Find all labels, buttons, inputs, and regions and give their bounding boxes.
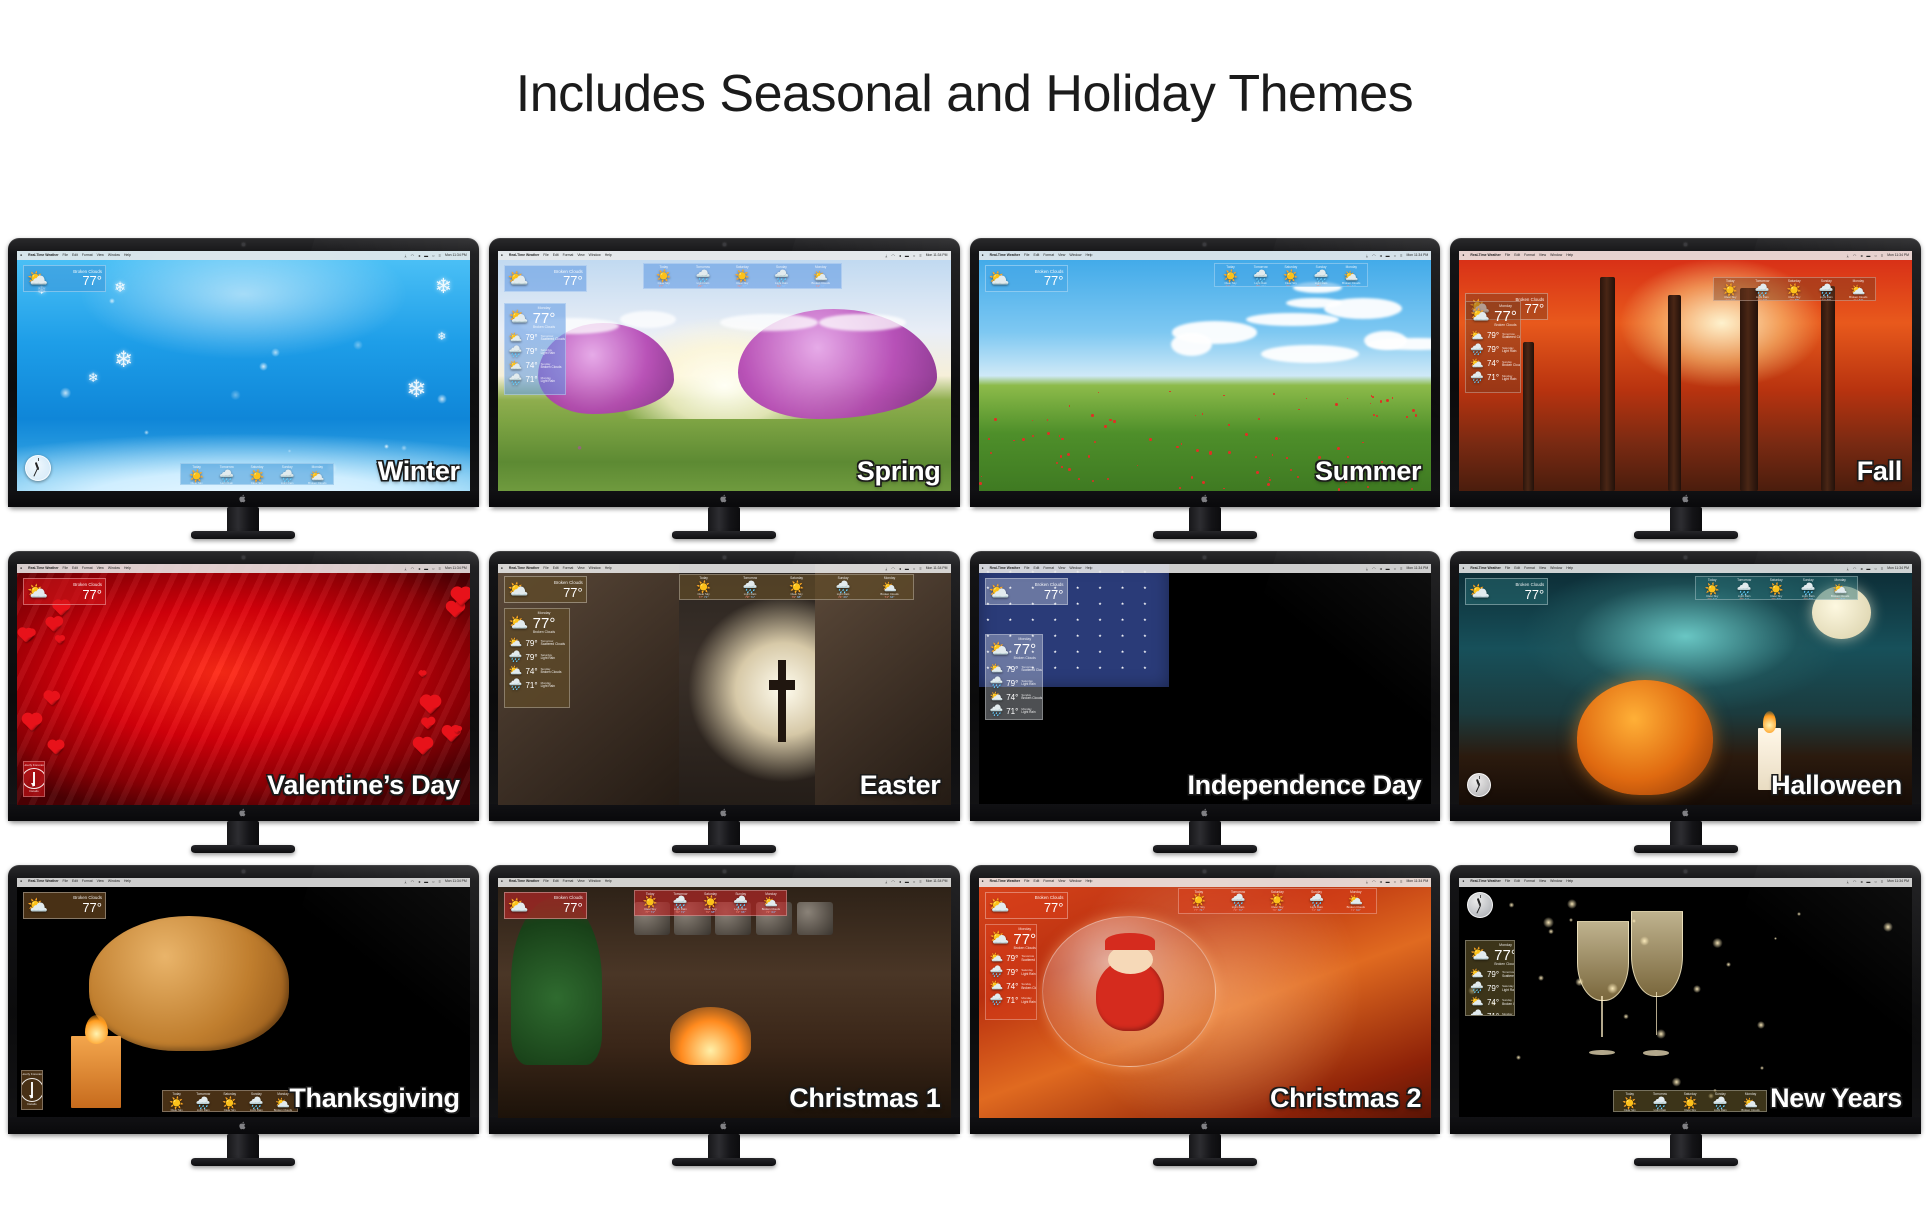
menu-app-name[interactable]: Real-Time Weather [28, 567, 58, 570]
menu-item-view[interactable]: View [97, 880, 104, 883]
menu-item-edit[interactable]: Edit [72, 880, 78, 883]
menu-item-format[interactable]: Format [563, 880, 574, 883]
desktop-screen[interactable]: ●Real-Time WeatherFileEditFormatViewWind… [1459, 251, 1912, 491]
forecast-panel-row[interactable]: 🌧️79°SaturdayLight Rain [1470, 983, 1510, 994]
battery-icon[interactable]: ▬ [1866, 567, 1870, 571]
menu-bar-clock[interactable]: Mon 11:34 PM [1406, 880, 1428, 883]
forecast-day-cell[interactable]: Sunday🌧️Light Rain74° 66° [1706, 1092, 1735, 1110]
forecast-day-cell[interactable]: Monday⛅Broken Clouds71° 64° [1337, 890, 1375, 912]
battery-icon[interactable]: ▬ [424, 567, 428, 571]
barometer-widget[interactable]: Hourly ForecastDetails [21, 1070, 43, 1110]
menu-item-edit[interactable]: Edit [1514, 567, 1520, 570]
forecast-panel-row[interactable]: 🌧️79°SaturdayLight Rain [509, 347, 561, 358]
menu-item-format[interactable]: Format [1524, 880, 1535, 883]
menu-item-file[interactable]: File [543, 880, 548, 883]
forecast-panel-row[interactable]: 🌧️71°MondayLight Rain [990, 706, 1038, 717]
forecast-day-cell[interactable]: Monday⛅Broken Clouds71° 64° [1736, 1092, 1765, 1110]
desktop-screen[interactable]: ●Real-Time WeatherFileEditFormatViewWind… [1459, 878, 1912, 1118]
menu-app-name[interactable]: Real-Time Weather [1470, 567, 1500, 570]
barometer-widget[interactable]: Hourly ForecastDetails [23, 761, 45, 797]
apple-menu-icon[interactable]: ● [501, 880, 503, 884]
notification-icon[interactable]: ≡ [439, 880, 441, 884]
menu-item-file[interactable]: File [63, 254, 68, 257]
menu-bar-clock[interactable]: Mon 11:34 PM [926, 567, 948, 570]
forecast-day-cell[interactable]: Monday⛅Broken Clouds71° 64° [1843, 279, 1874, 299]
bluetooth-icon[interactable]: ᛦ [1366, 880, 1368, 884]
battery-icon[interactable]: ▬ [424, 880, 428, 884]
forecast-day-cell[interactable]: Sunday🌧️Light Rain74° 66° [273, 465, 302, 483]
apple-menu-icon[interactable]: ● [501, 254, 503, 258]
menu-item-window[interactable]: Window [1069, 254, 1081, 257]
menu-bar-clock[interactable]: Mon 11:34 PM [445, 567, 467, 570]
monitor-fall[interactable]: ●Real-Time WeatherFileEditFormatViewWind… [1450, 238, 1921, 541]
menu-item-format[interactable]: Format [563, 254, 574, 257]
forecast-day-cell[interactable]: Sunday🌧️Light Rain74° 66° [244, 1092, 270, 1110]
battery-icon[interactable]: ▬ [1386, 567, 1390, 571]
current-conditions-widget[interactable]: ⛅Broken Clouds77° [23, 892, 106, 919]
forecast-day-cell[interactable]: Saturday☀️Clear Sky79° 68° [723, 265, 761, 287]
battery-icon[interactable]: ▬ [424, 254, 428, 258]
forecast-day-cell[interactable]: Monday⛅Broken Clouds71° 64° [303, 465, 332, 483]
forecast-strip-widget[interactable]: Today☀️Clear Sky77° 71°Tomorrow🌧️Light R… [643, 263, 842, 289]
bluetooth-icon[interactable]: ᛦ [1366, 567, 1368, 571]
monitor-winter[interactable]: ❄❄❄❄❄❄❄●Real-Time WeatherFileEditFormatV… [8, 238, 479, 541]
menu-item-view[interactable]: View [577, 567, 584, 570]
monitor-easter[interactable]: ●Real-Time WeatherFileEditFormatViewWind… [489, 551, 960, 854]
desktop-screen[interactable]: ●Real-Time WeatherFileEditFormatViewWind… [17, 564, 470, 804]
wifi-icon[interactable]: ◠ [1853, 880, 1857, 884]
forecast-panel-row[interactable]: ⛅74°SundayBroken Clouds [509, 666, 565, 677]
forecast-day-cell[interactable]: Saturday☀️Clear Sky79° 68° [242, 465, 271, 483]
monitor-independence[interactable]: ★★★★★★★★★★★★★★★★★★★★★★★★★★★★★★★★★★★★★★★★… [970, 551, 1441, 854]
apple-menu-icon[interactable]: ● [20, 567, 22, 571]
forecast-day-cell[interactable]: Sunday🌧️Light Rain74° 66° [820, 576, 865, 598]
search-icon[interactable]: ○ [432, 567, 434, 571]
menu-item-edit[interactable]: Edit [1514, 880, 1520, 883]
menu-item-file[interactable]: File [543, 254, 548, 257]
menu-item-format[interactable]: Format [82, 567, 93, 570]
desktop-screen[interactable]: ❄❄❄❄❄❄❄●Real-Time WeatherFileEditFormatV… [17, 251, 470, 491]
menu-item-help[interactable]: Help [1085, 880, 1092, 883]
forecast-day-cell[interactable]: Saturday☀️Clear Sky79° 68° [1276, 265, 1305, 285]
menu-item-window[interactable]: Window [1069, 567, 1081, 570]
forecast-day-cell[interactable]: Monday⛅Broken Clouds71° 64° [867, 576, 912, 598]
forecast-panel-widget[interactable]: ⛅Monday77°Broken Clouds⛅79°TomorrowScatt… [985, 634, 1043, 720]
menu-item-window[interactable]: Window [1069, 880, 1081, 883]
monitor-spring[interactable]: ●Real-Time WeatherFileEditFormatViewWind… [489, 238, 960, 541]
forecast-day-cell[interactable]: Saturday☀️Clear Sky79° 68° [217, 1092, 243, 1110]
forecast-panel-row[interactable]: 🌧️71°MondayLight Rain [509, 680, 565, 691]
menu-item-window[interactable]: Window [589, 567, 601, 570]
menu-item-edit[interactable]: Edit [1034, 567, 1040, 570]
menu-item-file[interactable]: File [63, 880, 68, 883]
menu-item-window[interactable]: Window [1550, 880, 1562, 883]
menu-app-name[interactable]: Real-Time Weather [509, 254, 539, 257]
forecast-day-cell[interactable]: Saturday☀️Clear Sky79° 68° [1761, 578, 1792, 598]
wifi-icon[interactable]: ◠ [411, 880, 415, 884]
forecast-panel-row[interactable]: ⛅74°SundayBroken Clouds [1470, 997, 1510, 1008]
forecast-strip-widget[interactable]: Today☀️Clear Sky77° 71°Tomorrow🌧️Light R… [180, 463, 334, 485]
menu-item-file[interactable]: File [1024, 880, 1029, 883]
menu-item-window[interactable]: Window [1550, 254, 1562, 257]
volume-icon[interactable]: ◂ [1860, 567, 1862, 571]
forecast-day-cell[interactable]: Monday⛅Broken Clouds71° 64° [1825, 578, 1856, 598]
menu-item-format[interactable]: Format [1524, 567, 1535, 570]
menu-item-edit[interactable]: Edit [1034, 880, 1040, 883]
menu-item-format[interactable]: Format [82, 880, 93, 883]
forecast-day-cell[interactable]: Today☀️Clear Sky77° 71° [636, 892, 665, 914]
menu-item-help[interactable]: Help [1085, 567, 1092, 570]
monitor-thanksgiving[interactable]: ●Real-Time WeatherFileEditFormatViewWind… [8, 865, 479, 1168]
apple-menu-icon[interactable]: ● [982, 254, 984, 258]
forecast-day-cell[interactable]: Tomorrow🌧️Light Rain79° 71° [212, 465, 241, 483]
forecast-panel-row[interactable]: ⛅74°SundayBroken Clouds [990, 692, 1038, 703]
menu-item-file[interactable]: File [1024, 567, 1029, 570]
wifi-icon[interactable]: ◠ [1372, 254, 1376, 258]
forecast-panel-row[interactable]: ⛅79°TomorrowScattered Clouds [990, 664, 1038, 675]
bluetooth-icon[interactable]: ᛦ [1847, 567, 1849, 571]
menu-item-help[interactable]: Help [1566, 880, 1573, 883]
forecast-day-cell[interactable]: Monday⛅Broken Clouds71° 64° [1337, 265, 1366, 285]
forecast-day-cell[interactable]: Sunday🌧️Light Rain74° 66° [1793, 578, 1824, 598]
notification-icon[interactable]: ≡ [919, 567, 921, 571]
menu-item-window[interactable]: Window [589, 880, 601, 883]
battery-icon[interactable]: ▬ [1866, 880, 1870, 884]
bluetooth-icon[interactable]: ᛦ [1847, 254, 1849, 258]
notification-icon[interactable]: ≡ [1400, 880, 1402, 884]
menu-item-format[interactable]: Format [1524, 254, 1535, 257]
search-icon[interactable]: ○ [432, 880, 434, 884]
forecast-panel-row[interactable]: 🌧️71°MondayLight Rain [1470, 373, 1516, 384]
volume-icon[interactable]: ◂ [418, 880, 420, 884]
forecast-day-cell[interactable]: Today☀️Clear Sky77° 71° [182, 465, 211, 483]
forecast-day-cell[interactable]: Today☀️Clear Sky77° 71° [1715, 279, 1746, 299]
bluetooth-icon[interactable]: ᛦ [1366, 254, 1368, 258]
desktop-screen[interactable]: ●Real-Time WeatherFileEditFormatViewWind… [498, 878, 951, 1118]
forecast-day-cell[interactable]: Today☀️Clear Sky77° 71° [645, 265, 683, 287]
notification-icon[interactable]: ≡ [1881, 880, 1883, 884]
wifi-icon[interactable]: ◠ [1372, 567, 1376, 571]
apple-menu-icon[interactable]: ● [1462, 880, 1464, 884]
menu-bar-clock[interactable]: Mon 11:34 PM [1887, 567, 1909, 570]
forecast-strip-widget[interactable]: Today☀️Clear Sky77° 71°Tomorrow🌧️Light R… [634, 890, 788, 916]
menu-item-edit[interactable]: Edit [72, 254, 78, 257]
menu-bar-clock[interactable]: Mon 11:34 PM [1887, 254, 1909, 257]
menu-item-help[interactable]: Help [124, 880, 131, 883]
forecast-strip-widget[interactable]: Today☀️Clear Sky77° 71°Tomorrow🌧️Light R… [1695, 576, 1858, 600]
menu-item-file[interactable]: File [1505, 254, 1510, 257]
forecast-day-cell[interactable]: Tomorrow🌧️Light Rain79° 71° [190, 1092, 216, 1110]
forecast-panel-row[interactable]: ⛅74°SundayBroken Clouds [509, 361, 561, 372]
forecast-panel-widget[interactable]: ⛅Monday77°Broken Clouds⛅79°TomorrowScatt… [504, 608, 570, 708]
menu-item-edit[interactable]: Edit [553, 880, 559, 883]
forecast-day-cell[interactable]: Saturday☀️Clear Sky79° 68° [696, 892, 725, 914]
forecast-day-cell[interactable]: Today☀️Clear Sky77° 71° [1180, 890, 1218, 912]
forecast-strip-widget[interactable]: Today☀️Clear Sky77° 71°Tomorrow🌧️Light R… [1214, 263, 1368, 287]
forecast-panel-row[interactable]: ⛅74°SundayBroken Clouds [1470, 359, 1516, 370]
forecast-day-cell[interactable]: Tomorrow🌧️Light Rain79° 71° [666, 892, 695, 914]
menu-item-file[interactable]: File [1024, 254, 1029, 257]
apple-menu-icon[interactable]: ● [20, 254, 22, 258]
notification-icon[interactable]: ≡ [919, 254, 921, 258]
search-icon[interactable]: ○ [913, 880, 915, 884]
forecast-panel-row[interactable]: 🌧️79°SaturdayLight Rain [509, 652, 565, 663]
apple-menu-icon[interactable]: ● [20, 880, 22, 884]
volume-icon[interactable]: ◂ [1860, 880, 1862, 884]
menu-item-window[interactable]: Window [108, 567, 120, 570]
menu-item-format[interactable]: Format [1043, 254, 1054, 257]
apple-menu-icon[interactable]: ● [1462, 254, 1464, 258]
bluetooth-icon[interactable]: ᛦ [404, 880, 406, 884]
menu-bar-clock[interactable]: Mon 11:34 PM [1406, 567, 1428, 570]
forecast-day-cell[interactable]: Tomorrow🌧️Light Rain79° 71° [1645, 1092, 1674, 1110]
wifi-icon[interactable]: ◠ [891, 254, 895, 258]
volume-icon[interactable]: ◂ [899, 567, 901, 571]
menu-item-help[interactable]: Help [1566, 567, 1573, 570]
monitor-valentine[interactable]: ●Real-Time WeatherFileEditFormatViewWind… [8, 551, 479, 854]
desktop-screen[interactable]: ●Real-Time WeatherFileEditFormatViewWind… [979, 878, 1432, 1118]
bluetooth-icon[interactable]: ᛦ [885, 254, 887, 258]
current-conditions-widget[interactable]: ⛅Broken Clouds77° [23, 578, 106, 605]
wifi-icon[interactable]: ◠ [891, 567, 895, 571]
bluetooth-icon[interactable]: ᛦ [885, 880, 887, 884]
notification-icon[interactable]: ≡ [1881, 567, 1883, 571]
menu-app-name[interactable]: Real-Time Weather [1470, 880, 1500, 883]
forecast-day-cell[interactable]: Today☀️Clear Sky77° 71° [1615, 1092, 1644, 1110]
forecast-day-cell[interactable]: Today☀️Clear Sky77° 71° [164, 1092, 190, 1110]
forecast-day-cell[interactable]: Sunday🌧️Light Rain74° 66° [1306, 265, 1335, 285]
forecast-panel-row[interactable]: ⛅79°TomorrowScattered Clouds [1470, 331, 1516, 342]
forecast-panel-widget[interactable]: ⛅Monday77°Broken Clouds⛅79°TomorrowScatt… [1465, 301, 1521, 393]
forecast-panel-row[interactable]: 🌧️71°MondayLight Rain [990, 995, 1032, 1006]
menu-item-view[interactable]: View [1539, 254, 1546, 257]
monitor-xmas1[interactable]: ●Real-Time WeatherFileEditFormatViewWind… [489, 865, 960, 1168]
current-conditions-widget[interactable]: ⛅Broken Clouds77° [504, 265, 587, 292]
menu-app-name[interactable]: Real-Time Weather [509, 567, 539, 570]
search-icon[interactable]: ○ [432, 254, 434, 258]
monitor-halloween[interactable]: ●Real-Time WeatherFileEditFormatViewWind… [1450, 551, 1921, 854]
menu-item-view[interactable]: View [1058, 880, 1065, 883]
notification-icon[interactable]: ≡ [1400, 254, 1402, 258]
search-icon[interactable]: ○ [1874, 880, 1876, 884]
forecast-day-cell[interactable]: Tomorrow🌧️Light Rain79° 71° [727, 576, 772, 598]
battery-icon[interactable]: ▬ [905, 567, 909, 571]
wifi-icon[interactable]: ◠ [411, 567, 415, 571]
wifi-icon[interactable]: ◠ [1853, 254, 1857, 258]
current-conditions-widget[interactable]: ⛅Broken Clouds77° [23, 265, 106, 292]
menu-app-name[interactable]: Real-Time Weather [509, 880, 539, 883]
forecast-panel-row[interactable]: 🌧️71°MondayLight Rain [509, 375, 561, 386]
battery-icon[interactable]: ▬ [905, 880, 909, 884]
forecast-panel-widget[interactable]: ⛅Monday77°Broken Clouds⛅79°TomorrowScatt… [504, 303, 566, 395]
menu-app-name[interactable]: Real-Time Weather [28, 254, 58, 257]
wifi-icon[interactable]: ◠ [891, 880, 895, 884]
battery-icon[interactable]: ▬ [1386, 254, 1390, 258]
current-conditions-widget[interactable]: ⛅Broken Clouds77° [504, 892, 587, 919]
notification-icon[interactable]: ≡ [1881, 254, 1883, 258]
menu-item-file[interactable]: File [63, 567, 68, 570]
forecast-strip-widget[interactable]: Today☀️Clear Sky77° 71°Tomorrow🌧️Light R… [1178, 888, 1377, 914]
forecast-panel-row[interactable]: 🌧️79°SaturdayLight Rain [1470, 345, 1516, 356]
analog-clock-widget[interactable] [1467, 892, 1493, 918]
menu-item-edit[interactable]: Edit [1034, 254, 1040, 257]
battery-icon[interactable]: ▬ [905, 254, 909, 258]
volume-icon[interactable]: ◂ [1860, 254, 1862, 258]
bluetooth-icon[interactable]: ᛦ [885, 567, 887, 571]
forecast-day-cell[interactable]: Today☀️Clear Sky77° 71° [681, 576, 726, 598]
menu-item-format[interactable]: Format [1043, 567, 1054, 570]
menu-item-format[interactable]: Format [82, 254, 93, 257]
forecast-day-cell[interactable]: Tomorrow🌧️Light Rain79° 71° [1219, 890, 1257, 912]
menu-item-edit[interactable]: Edit [553, 567, 559, 570]
menu-app-name[interactable]: Real-Time Weather [28, 880, 58, 883]
current-conditions-widget[interactable]: ⛅Broken Clouds77° [985, 578, 1068, 605]
bluetooth-icon[interactable]: ᛦ [404, 254, 406, 258]
menu-item-view[interactable]: View [1539, 880, 1546, 883]
battery-icon[interactable]: ▬ [1866, 254, 1870, 258]
forecast-strip-widget[interactable]: Today☀️Clear Sky77° 71°Tomorrow🌧️Light R… [162, 1090, 298, 1112]
search-icon[interactable]: ○ [913, 567, 915, 571]
forecast-panel-row[interactable]: 🌧️71°MondayLight Rain [1470, 1011, 1510, 1015]
menu-item-file[interactable]: File [1505, 567, 1510, 570]
menu-bar-clock[interactable]: Mon 11:34 PM [445, 254, 467, 257]
search-icon[interactable]: ○ [1874, 254, 1876, 258]
forecast-day-cell[interactable]: Sunday🌧️Light Rain74° 66° [1297, 890, 1335, 912]
menu-bar-clock[interactable]: Mon 11:34 PM [1406, 254, 1428, 257]
search-icon[interactable]: ○ [1394, 254, 1396, 258]
forecast-day-cell[interactable]: Tomorrow🌧️Light Rain79° 71° [684, 265, 722, 287]
volume-icon[interactable]: ◂ [1380, 567, 1382, 571]
menu-item-help[interactable]: Help [605, 254, 612, 257]
menu-item-view[interactable]: View [1539, 567, 1546, 570]
wifi-icon[interactable]: ◠ [1372, 880, 1376, 884]
current-conditions-widget[interactable]: ⛅Broken Clouds77° [985, 265, 1068, 292]
bluetooth-icon[interactable]: ᛦ [1847, 880, 1849, 884]
menu-item-edit[interactable]: Edit [1514, 254, 1520, 257]
desktop-screen[interactable]: ●Real-Time WeatherFileEditFormatViewWind… [979, 251, 1432, 491]
desktop-screen[interactable]: ●Real-Time WeatherFileEditFormatViewWind… [498, 564, 951, 804]
forecast-day-cell[interactable]: Monday⛅Broken Clouds71° 64° [802, 265, 840, 287]
volume-icon[interactable]: ◂ [1380, 880, 1382, 884]
menu-item-help[interactable]: Help [124, 254, 131, 257]
forecast-day-cell[interactable]: Today☀️Clear Sky77° 71° [1697, 578, 1728, 598]
desktop-screen[interactable]: ●Real-Time WeatherFileEditFormatViewWind… [498, 251, 951, 491]
forecast-panel-row[interactable]: 🌧️79°SaturdayLight Rain [990, 967, 1032, 978]
forecast-day-cell[interactable]: Monday⛅Broken Clouds71° 64° [756, 892, 785, 914]
forecast-day-cell[interactable]: Tomorrow🌧️Light Rain79° 71° [1747, 279, 1778, 299]
menu-app-name[interactable]: Real-Time Weather [1470, 254, 1500, 257]
forecast-strip-widget[interactable]: Today☀️Clear Sky77° 71°Tomorrow🌧️Light R… [1713, 277, 1876, 301]
menu-item-help[interactable]: Help [1085, 254, 1092, 257]
forecast-day-cell[interactable]: Tomorrow🌧️Light Rain79° 71° [1246, 265, 1275, 285]
forecast-panel-row[interactable]: ⛅79°TomorrowScattered Clouds [509, 333, 561, 344]
wifi-icon[interactable]: ◠ [1853, 567, 1857, 571]
search-icon[interactable]: ○ [1874, 567, 1876, 571]
current-conditions-widget[interactable]: ⛅Broken Clouds77° [1465, 578, 1548, 605]
menu-item-view[interactable]: View [97, 567, 104, 570]
apple-menu-icon[interactable]: ● [982, 567, 984, 571]
bluetooth-icon[interactable]: ᛦ [404, 567, 406, 571]
menu-item-view[interactable]: View [577, 880, 584, 883]
menu-item-view[interactable]: View [97, 254, 104, 257]
menu-bar-clock[interactable]: Mon 11:34 PM [926, 880, 948, 883]
search-icon[interactable]: ○ [913, 254, 915, 258]
forecast-panel-widget[interactable]: ⛅Monday77°Broken Clouds⛅79°TomorrowScatt… [1465, 940, 1515, 1016]
menu-item-edit[interactable]: Edit [72, 567, 78, 570]
forecast-day-cell[interactable]: Sunday🌧️Light Rain74° 66° [726, 892, 755, 914]
notification-icon[interactable]: ≡ [1400, 567, 1402, 571]
menu-item-help[interactable]: Help [605, 567, 612, 570]
menu-item-file[interactable]: File [1505, 880, 1510, 883]
forecast-day-cell[interactable]: Saturday☀️Clear Sky79° 68° [1676, 1092, 1705, 1110]
menu-item-help[interactable]: Help [124, 567, 131, 570]
menu-item-format[interactable]: Format [1043, 880, 1054, 883]
notification-icon[interactable]: ≡ [919, 880, 921, 884]
volume-icon[interactable]: ◂ [899, 880, 901, 884]
forecast-day-cell[interactable]: Sunday🌧️Light Rain74° 66° [762, 265, 800, 287]
forecast-strip-widget[interactable]: Today☀️Clear Sky77° 71°Tomorrow🌧️Light R… [1613, 1090, 1767, 1112]
wifi-icon[interactable]: ◠ [411, 254, 415, 258]
forecast-day-cell[interactable]: Saturday☀️Clear Sky79° 68° [774, 576, 819, 598]
forecast-strip-widget[interactable]: Today☀️Clear Sky77° 71°Tomorrow🌧️Light R… [679, 574, 914, 600]
menu-item-help[interactable]: Help [1566, 254, 1573, 257]
menu-item-view[interactable]: View [577, 254, 584, 257]
forecast-day-cell[interactable]: Today☀️Clear Sky77° 71° [1216, 265, 1245, 285]
menu-app-name[interactable]: Real-Time Weather [990, 880, 1020, 883]
forecast-panel-row[interactable]: 🌧️79°SaturdayLight Rain [990, 678, 1038, 689]
menu-bar-clock[interactable]: Mon 11:34 PM [445, 880, 467, 883]
forecast-panel-row[interactable]: ⛅79°TomorrowScattered Clouds [1470, 969, 1510, 980]
monitor-summer[interactable]: ●Real-Time WeatherFileEditFormatViewWind… [970, 238, 1441, 541]
notification-icon[interactable]: ≡ [439, 567, 441, 571]
volume-icon[interactable]: ◂ [1380, 254, 1382, 258]
apple-menu-icon[interactable]: ● [982, 880, 984, 884]
monitor-xmas2[interactable]: ●Real-Time WeatherFileEditFormatViewWind… [970, 865, 1441, 1168]
menu-item-view[interactable]: View [1058, 567, 1065, 570]
volume-icon[interactable]: ◂ [418, 567, 420, 571]
search-icon[interactable]: ○ [1394, 880, 1396, 884]
menu-bar-clock[interactable]: Mon 11:34 PM [1887, 880, 1909, 883]
menu-bar-clock[interactable]: Mon 11:34 PM [926, 254, 948, 257]
forecast-day-cell[interactable]: Saturday☀️Clear Sky79° 68° [1258, 890, 1296, 912]
menu-item-window[interactable]: Window [1550, 567, 1562, 570]
menu-item-window[interactable]: Window [589, 254, 601, 257]
menu-app-name[interactable]: Real-Time Weather [990, 567, 1020, 570]
search-icon[interactable]: ○ [1394, 567, 1396, 571]
current-conditions-widget[interactable]: ⛅Broken Clouds77° [985, 892, 1068, 919]
apple-menu-icon[interactable]: ● [1462, 567, 1464, 571]
menu-item-edit[interactable]: Edit [553, 254, 559, 257]
forecast-day-cell[interactable]: Saturday☀️Clear Sky79° 68° [1779, 279, 1810, 299]
notification-icon[interactable]: ≡ [439, 254, 441, 258]
analog-clock-widget[interactable] [1467, 773, 1491, 797]
menu-item-format[interactable]: Format [563, 567, 574, 570]
desktop-screen[interactable]: ●Real-Time WeatherFileEditFormatViewWind… [17, 878, 470, 1118]
forecast-panel-row[interactable]: ⛅79°TomorrowScattered Clouds [509, 638, 565, 649]
apple-menu-icon[interactable]: ● [501, 567, 503, 571]
current-conditions-widget[interactable]: ⛅Broken Clouds77° [504, 576, 587, 603]
monitor-newyears[interactable]: ●Real-Time WeatherFileEditFormatViewWind… [1450, 865, 1921, 1168]
menu-item-view[interactable]: View [1058, 254, 1065, 257]
menu-item-file[interactable]: File [543, 567, 548, 570]
volume-icon[interactable]: ◂ [899, 254, 901, 258]
desktop-screen[interactable]: ★★★★★★★★★★★★★★★★★★★★★★★★★★★★★★★★★★★★★★★★… [979, 564, 1432, 804]
menu-app-name[interactable]: Real-Time Weather [990, 254, 1020, 257]
menu-item-window[interactable]: Window [108, 880, 120, 883]
battery-icon[interactable]: ▬ [1386, 880, 1390, 884]
volume-icon[interactable]: ◂ [418, 254, 420, 258]
desktop-screen[interactable]: ●Real-Time WeatherFileEditFormatViewWind… [1459, 564, 1912, 804]
